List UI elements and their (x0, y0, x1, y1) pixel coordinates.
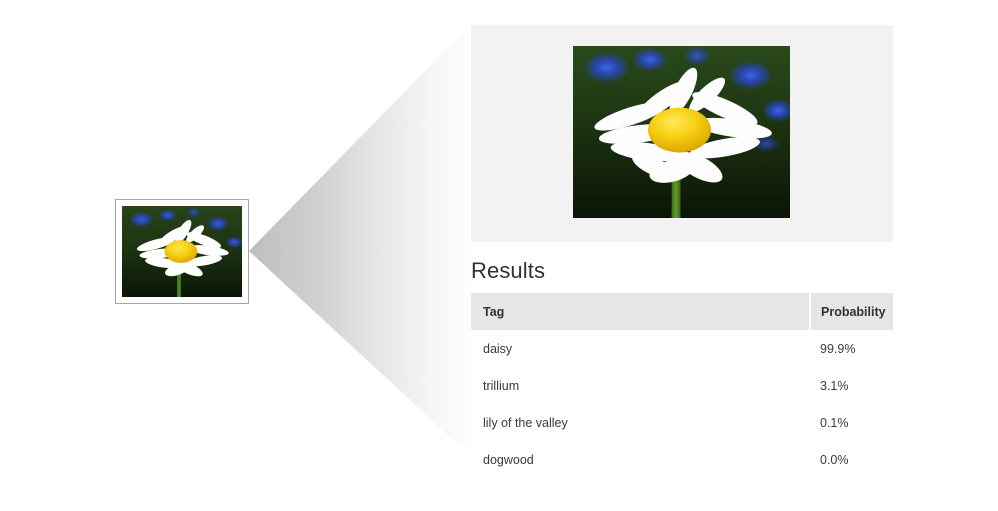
column-header-probability[interactable]: Probability (810, 293, 893, 330)
cell-tag: daisy (471, 330, 810, 367)
source-image-thumbnail[interactable] (115, 199, 249, 304)
table-row[interactable]: dogwood 0.0% (471, 441, 893, 478)
cell-probability: 0.1% (810, 404, 893, 441)
cell-probability: 0.0% (810, 441, 893, 478)
results-section: Results Tag Probability daisy 99.9% tril… (471, 258, 893, 478)
results-table-header: Tag Probability (471, 293, 893, 330)
cell-tag: trillium (471, 367, 810, 404)
zoom-callout-wedge (245, 20, 475, 460)
results-title: Results (471, 258, 893, 284)
cell-tag: dogwood (471, 441, 810, 478)
results-table-body: daisy 99.9% trillium 3.1% lily of the va… (471, 330, 893, 478)
preview-panel (471, 25, 893, 242)
cell-probability: 99.9% (810, 330, 893, 367)
daisy-preview-image (573, 46, 790, 218)
cell-probability: 3.1% (810, 367, 893, 404)
results-table: Tag Probability daisy 99.9% trillium 3.1… (471, 293, 893, 478)
table-row[interactable]: lily of the valley 0.1% (471, 404, 893, 441)
cell-tag: lily of the valley (471, 404, 810, 441)
image-classification-result-view: Results Tag Probability daisy 99.9% tril… (0, 0, 998, 511)
table-row[interactable]: daisy 99.9% (471, 330, 893, 367)
daisy-thumbnail-image (122, 206, 242, 297)
table-header-row: Tag Probability (471, 293, 893, 330)
table-row[interactable]: trillium 3.1% (471, 367, 893, 404)
column-header-tag[interactable]: Tag (471, 293, 810, 330)
